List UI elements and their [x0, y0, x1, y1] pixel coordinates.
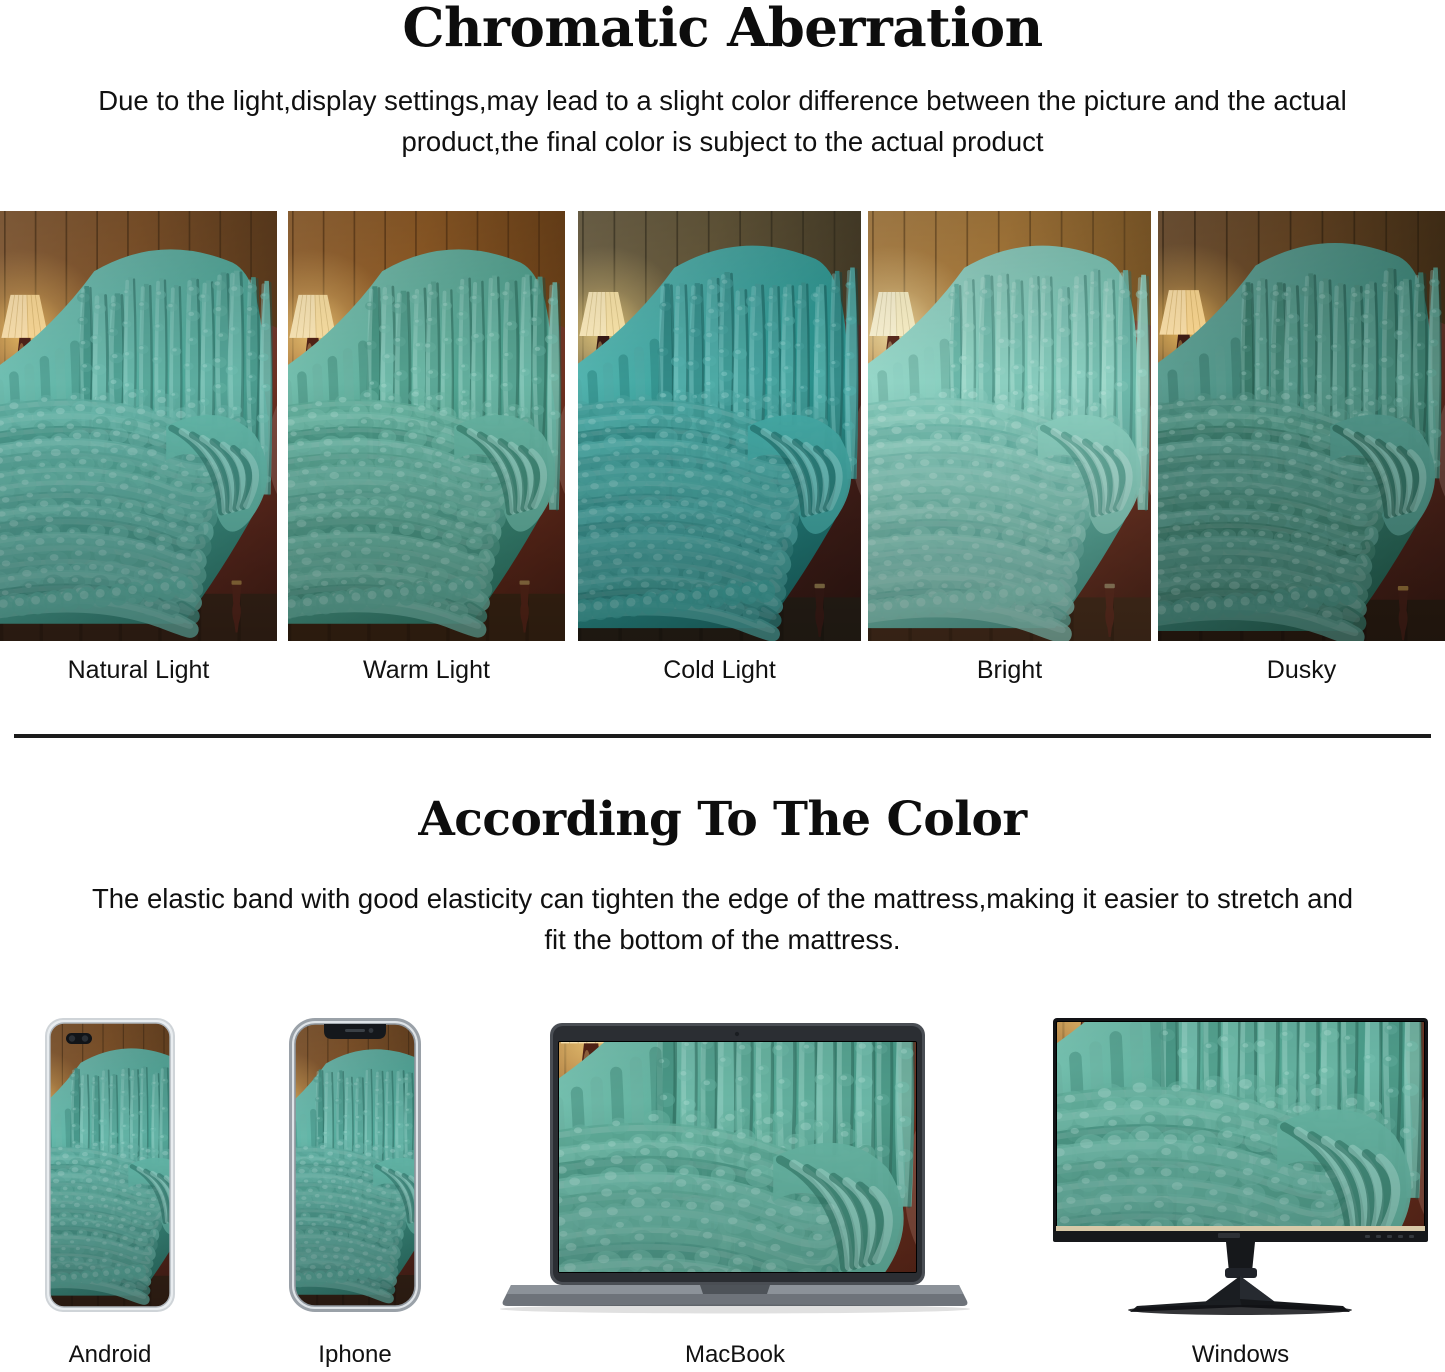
- page-title-chromatic-aberration: Chromatic Aberration: [0, 0, 1445, 58]
- lighting-sample-image-natural-light: [0, 211, 277, 641]
- page-title-according-to-the-color: According To The Color: [0, 790, 1445, 850]
- device-label-macbook: MacBook: [495, 1340, 975, 1372]
- lighting-sample-label: Warm Light: [288, 652, 565, 688]
- device-label-windows: Windows: [1043, 1340, 1438, 1372]
- device-mockup-windows: [1043, 1010, 1438, 1320]
- lighting-sample-label: Cold Light: [578, 652, 861, 688]
- lighting-sample-label: Dusky: [1158, 652, 1445, 688]
- lighting-sample-label: Natural Light: [0, 652, 277, 688]
- device-mockup-android: [40, 1015, 180, 1315]
- lighting-sample-image-warm-light: [288, 211, 565, 641]
- device-mockup-strip: [0, 1008, 1445, 1328]
- device-mockup-macbook: [495, 1015, 975, 1315]
- subtitle-chromatic-aberration: Due to the light,display settings,may le…: [60, 80, 1385, 162]
- lighting-sample-strip: [0, 211, 1445, 641]
- lighting-sample-label: Bright: [868, 652, 1151, 688]
- lighting-sample-image-cold-light: [578, 211, 861, 641]
- device-label-android: Android: [40, 1340, 180, 1372]
- infographic-page: Chromatic Aberration Due to the light,di…: [0, 0, 1445, 1372]
- device-label-iphone: Iphone: [285, 1340, 425, 1372]
- lighting-sample-image-bright: [868, 211, 1151, 641]
- lighting-sample-image-dusky: [1158, 211, 1445, 641]
- subtitle-according-to-the-color: The elastic band with good elasticity ca…: [85, 878, 1360, 960]
- device-mockup-iphone: [285, 1015, 425, 1315]
- section-divider: [14, 734, 1431, 738]
